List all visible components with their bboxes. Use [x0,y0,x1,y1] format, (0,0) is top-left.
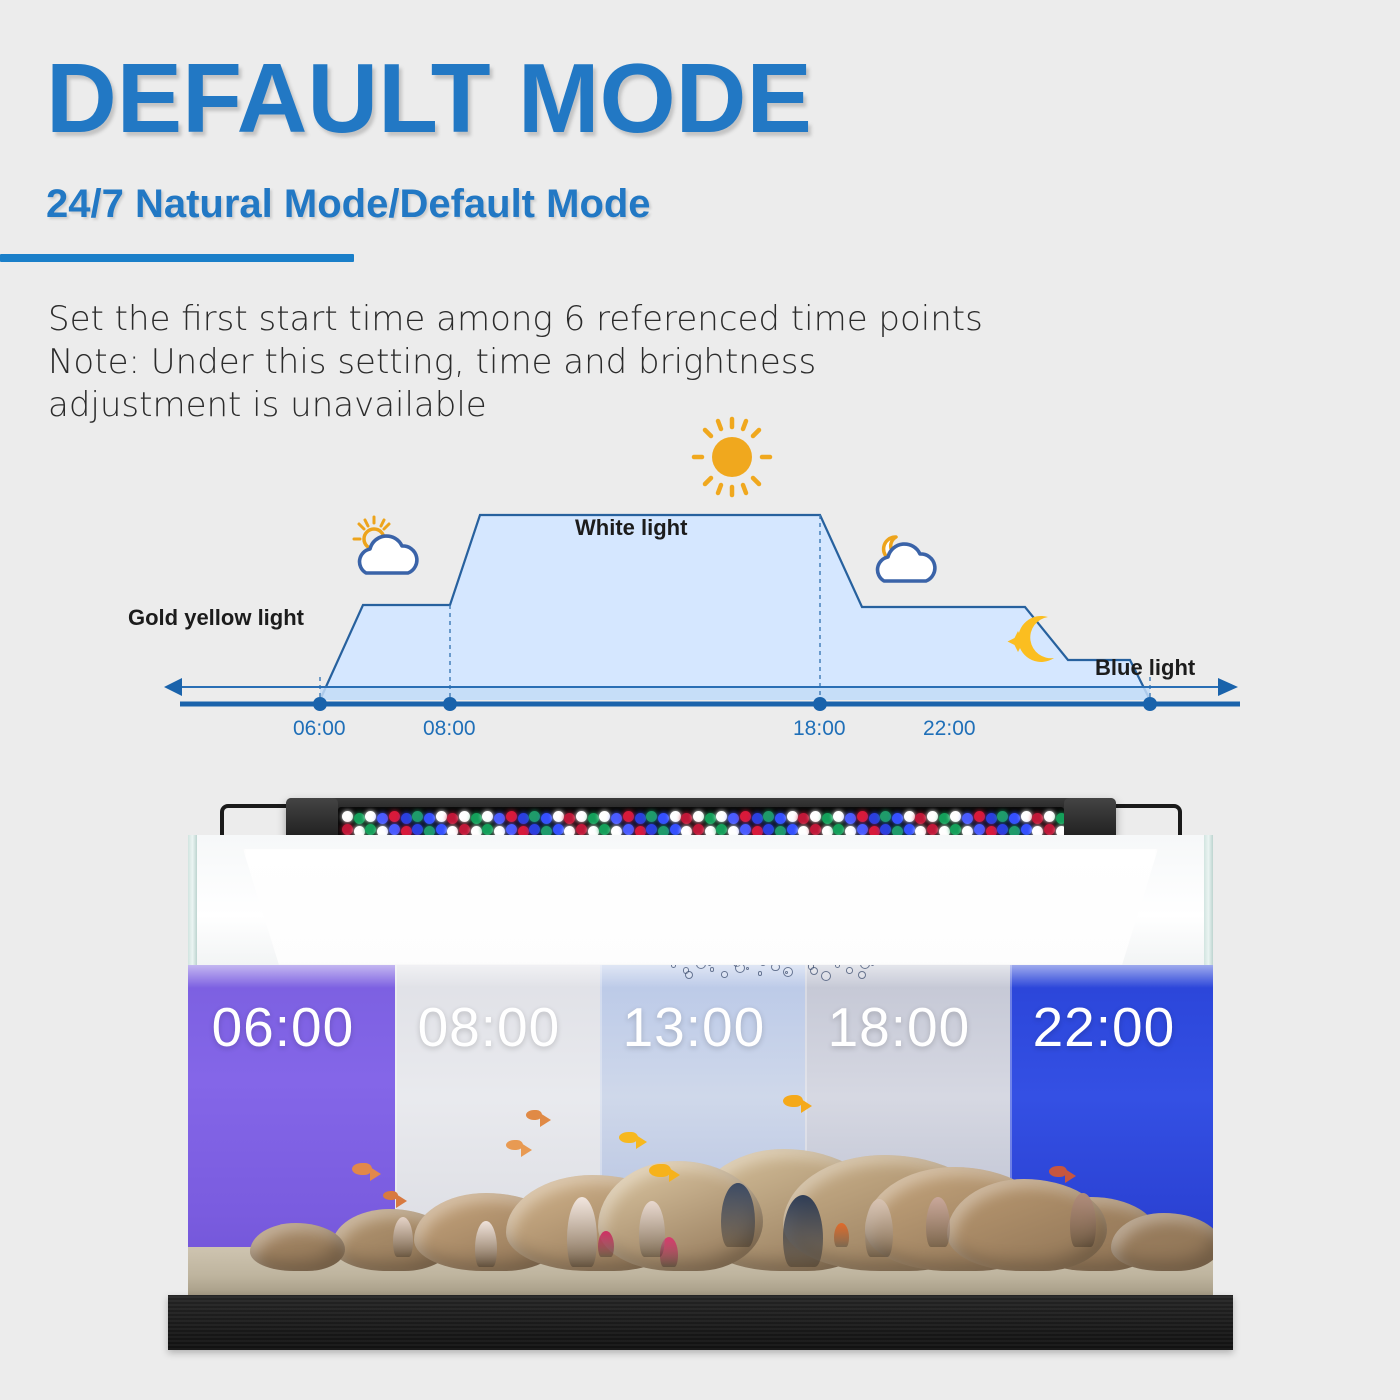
led-dot [1009,813,1020,824]
led-dot [365,824,376,835]
led-dot [892,813,903,824]
led-dot [553,811,564,822]
led-dot [482,811,493,822]
tank-top-rim [188,835,1213,970]
led-dot [728,813,739,824]
tick-label-2200: 22:00 [923,717,976,741]
coral [865,1199,893,1257]
led-dot [1021,811,1032,822]
fish [783,1095,803,1107]
chart-label-white-light: White light [575,515,687,541]
coral [834,1223,849,1247]
bubble [735,965,745,973]
led-dot [857,811,868,822]
led-dot [365,811,376,822]
arrow-head-left [164,678,182,696]
fish [649,1164,671,1177]
led-dot [506,811,517,822]
bubble [671,965,676,968]
time-stamp-1800: 18:00 [828,995,971,1059]
led-dot [986,813,997,824]
led-dot [611,813,622,824]
bubble [760,965,767,966]
led-dot [576,824,587,835]
sun-behind-cloud-icon [354,517,417,573]
led-dot [494,813,505,824]
coral [475,1221,497,1267]
tank-water: 06:00 08:00 13:00 18:00 22:00 [188,965,1213,1295]
led-dot [787,824,798,835]
led-dot [1056,813,1064,824]
bubble [746,967,749,970]
led-dot [775,813,786,824]
led-dot [810,811,821,822]
time-stamp-2200: 22:00 [1033,995,1176,1059]
led-dot [658,813,669,824]
led-dot [529,824,540,835]
led-dot [599,811,610,822]
led-dot [342,811,353,822]
led-dot [471,813,482,824]
led-dot [915,813,926,824]
led-dot [436,811,447,822]
coral [783,1195,823,1267]
sun-icon [694,419,770,495]
led-dot [377,813,388,824]
description-line-2: Note: Under this setting, time and brigh… [48,341,1028,384]
page-title: DEFAULT MODE [46,48,812,148]
led-dot [752,813,763,824]
led-dot [857,824,868,835]
fish [526,1110,542,1120]
led-dot [599,824,610,835]
led-dot [506,824,517,835]
led-dot [529,811,540,822]
led-dot [997,824,1008,835]
coral [598,1231,614,1257]
infographic-page: DEFAULT MODE 24/7 Natural Mode/Default M… [0,0,1400,1400]
surface-bubbles [660,965,886,977]
chart-base-strip [320,687,1150,700]
led-dot [459,824,470,835]
led-dot [833,811,844,822]
led-dot [670,811,681,822]
moon-behind-cloud-icon [878,537,935,581]
led-dot [798,813,809,824]
reef-scenery [188,1090,1213,1295]
led-dot [389,824,400,835]
led-dot [482,824,493,835]
led-dot [740,824,751,835]
led-dot [716,824,727,835]
bubble [871,965,874,966]
led-dot [822,813,833,824]
fish [1049,1166,1067,1177]
chart-label-gold-yellow-light: Gold yellow light [128,605,304,631]
led-dot [1021,824,1032,835]
led-dot [389,811,400,822]
tick-label-1800: 18:00 [793,717,846,741]
led-dot [927,811,938,822]
led-dot [904,824,915,835]
axis-point-0600 [313,697,327,711]
led-dot [904,811,915,822]
led-dot [635,813,646,824]
led-dot [927,824,938,835]
led-dot [342,824,353,835]
led-dot [810,824,821,835]
led-dot [447,813,458,824]
led-dot [950,811,961,822]
led-dot [541,813,552,824]
fish [383,1191,398,1200]
led-dot [681,813,692,824]
led-dot [459,811,470,822]
bubble [785,971,788,974]
bubble [708,965,711,966]
led-dot [763,811,774,822]
time-stamp-0800: 08:00 [418,995,561,1059]
led-dot [646,811,657,822]
led-dot [564,813,575,824]
bubble [846,967,853,974]
axis-point-0800 [443,697,457,711]
title-accent-bar [0,254,354,262]
led-dot [833,824,844,835]
led-dot [869,813,880,824]
coral [1070,1193,1096,1247]
description-block: Set the first start time among 6 referen… [48,298,1028,427]
led-dot [1032,813,1043,824]
led-dot [693,824,704,835]
led-dot [880,811,891,822]
axis-point-end [1143,697,1157,711]
led-dot [939,813,950,824]
chart-label-blue-light: Blue light [1095,655,1195,681]
led-dot [518,813,529,824]
led-dot [412,824,423,835]
led-dot [424,813,435,824]
led-dot [670,824,681,835]
time-stamp-1300: 13:00 [623,995,766,1059]
live-rock [250,1223,345,1271]
led-dot [997,811,1008,822]
led-dot [553,824,564,835]
bubble [721,971,728,978]
led-dot [740,811,751,822]
led-dot [588,813,599,824]
led-dot [763,824,774,835]
tick-label-0600: 06:00 [293,717,346,741]
bubble [696,965,706,969]
led-dot [845,813,856,824]
tank-top-surface [243,849,1158,967]
bubble [810,967,818,975]
page-subtitle: 24/7 Natural Mode/Default Mode [46,182,651,226]
led-dot [705,813,716,824]
bubble [771,965,779,971]
led-dot [880,824,891,835]
aquarium-tank: 06:00 08:00 13:00 18:00 22:00 [188,835,1213,1295]
led-dot [974,811,985,822]
led-dot [623,811,634,822]
light-schedule-chart: Gold yellow light White light Blue light… [120,415,1250,760]
led-dot [693,811,704,822]
led-dot [974,824,985,835]
led-dot [354,813,365,824]
led-dot [1044,824,1055,835]
bubble [860,965,870,969]
fish [619,1132,638,1143]
fish [506,1140,523,1150]
led-dot [787,811,798,822]
led-dot [436,824,447,835]
description-line-1: Set the first start time among 6 referen… [48,298,1028,341]
time-stamp-0600: 06:00 [212,995,355,1059]
led-dot [623,824,634,835]
led-dot [646,824,657,835]
led-dot [412,811,423,822]
led-dot [576,811,587,822]
arrow-head-right [1218,678,1238,696]
chart-svg [120,415,1250,735]
axis-point-1800 [813,697,827,711]
led-dot [962,813,973,824]
fish [352,1163,372,1175]
bubble [835,965,840,968]
led-dot [1044,811,1055,822]
bubble [710,967,715,972]
led-dot [716,811,727,822]
aquarium-product-photo: 06:00 08:00 13:00 18:00 22:00 [168,790,1233,1350]
led-dot [401,813,412,824]
tick-label-0800: 08:00 [423,717,476,741]
led-dot [950,824,961,835]
coral [393,1217,413,1257]
aquarium-stand [168,1295,1233,1350]
bubble [758,971,763,976]
